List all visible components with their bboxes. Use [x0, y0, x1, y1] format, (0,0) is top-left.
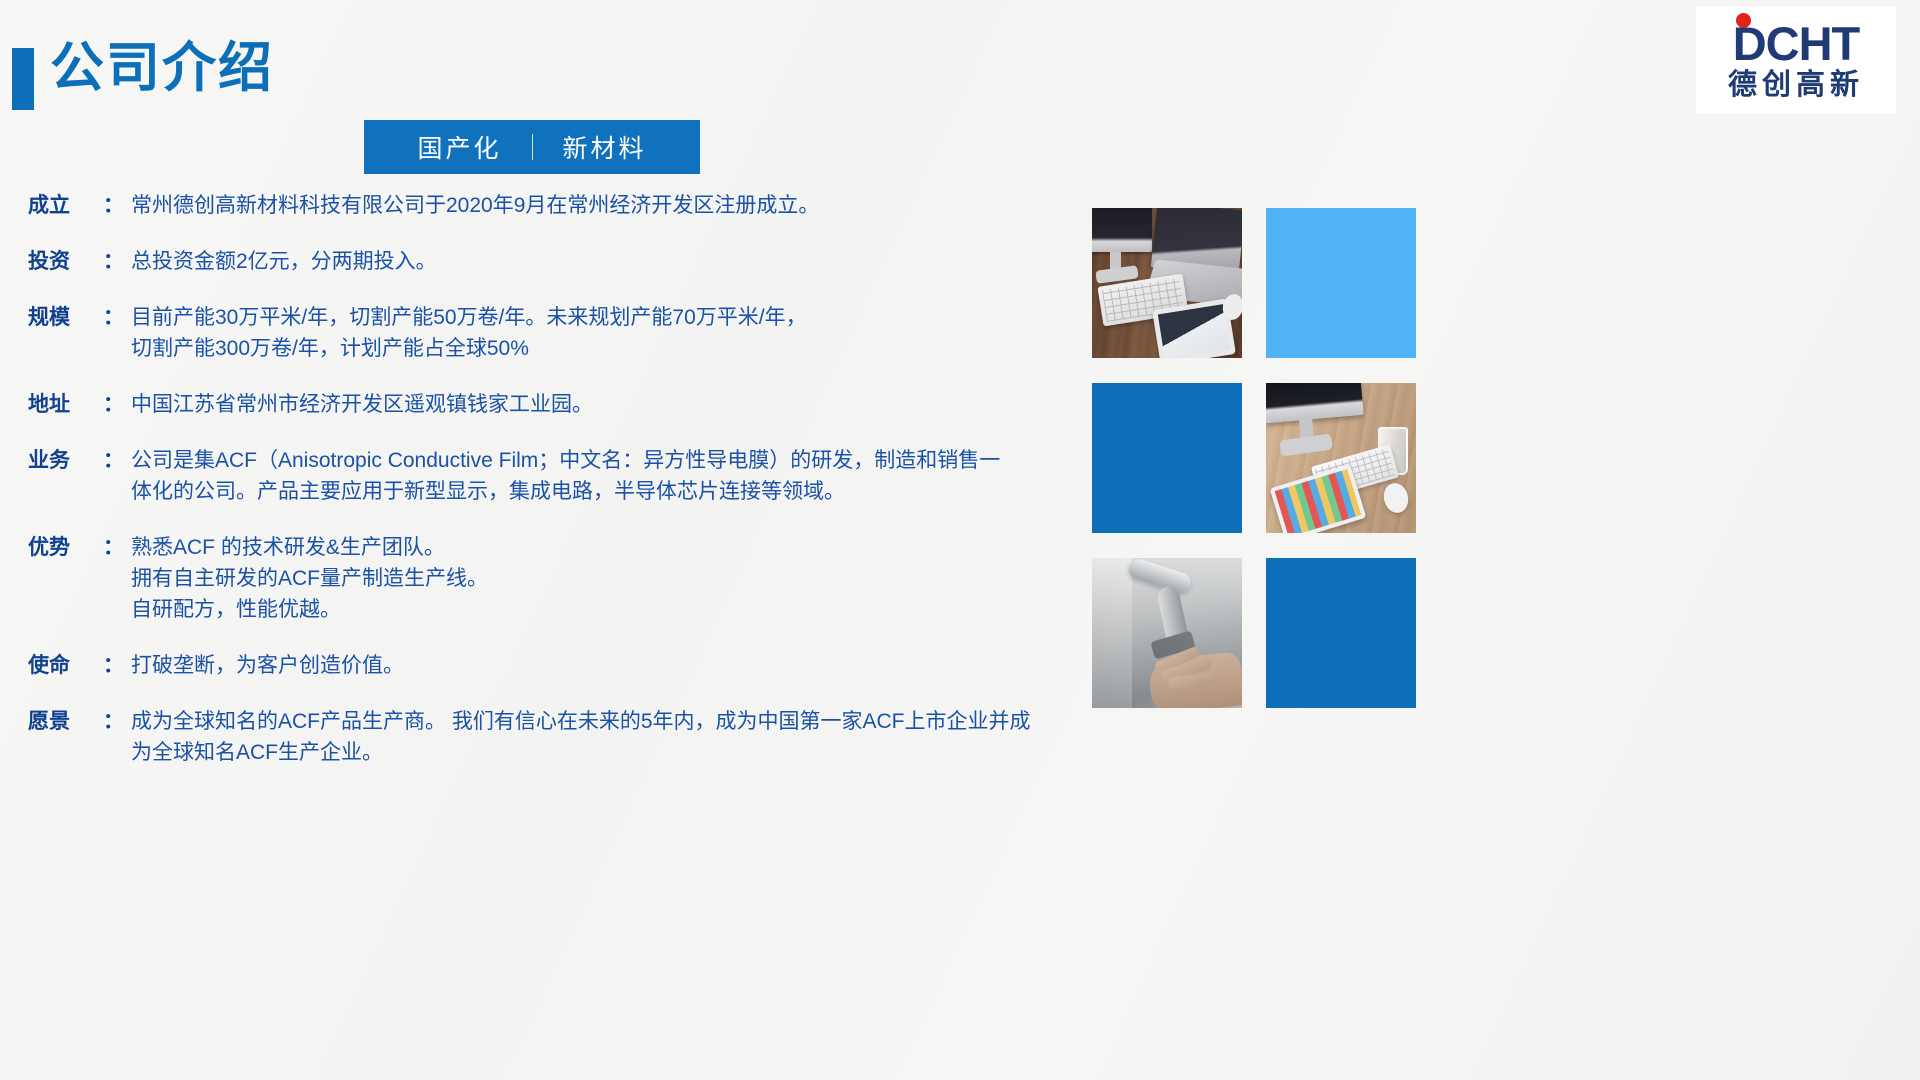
info-row-body: 熟悉ACF 的技术研发&生产团队。拥有自主研发的ACF量产制造生产线。自研配方，…: [131, 532, 1088, 625]
info-row: 地址：中国江苏省常州市经济开发区遥观镇钱家工业园。: [28, 389, 1088, 420]
banner-label-right: 新材料: [563, 129, 647, 165]
logo-red-dot-icon: [1736, 13, 1751, 28]
title-accent-bar: [12, 48, 34, 110]
info-row: 愿景：成为全球知名的ACF产品生产商。 我们有信心在未来的5年内，成为中国第一家…: [28, 706, 1088, 768]
info-row-label: 使命: [28, 650, 102, 681]
info-row-body: 公司是集ACF（Anisotropic Conductive Film；中文名：…: [131, 445, 1088, 507]
info-row-label: 成立: [28, 190, 102, 221]
info-row-line: 拥有自主研发的ACF量产制造生产线。: [131, 563, 1088, 594]
info-row-line: 熟悉ACF 的技术研发&生产团队。: [131, 532, 1088, 563]
info-row-line: 中国江苏省常州市经济开发区遥观镇钱家工业园。: [131, 389, 1088, 420]
info-row: 成立：常州德创高新材料科技有限公司于2020年9月在常州经济开发区注册成立。: [28, 190, 1088, 221]
info-row-colon: ：: [102, 302, 131, 333]
info-row-colon: ：: [102, 532, 131, 563]
info-row-label: 优势: [28, 532, 102, 563]
grid-tile-dark-blue-left: [1092, 383, 1242, 533]
info-row-body: 目前产能30万平米/年，切割产能50万卷/年。未来规划产能70万平米/年，切割产…: [131, 302, 1088, 364]
grid-photo-desk-light: [1266, 383, 1416, 533]
logo-wordmark: DCHT: [1733, 20, 1860, 67]
info-row-line: 常州德创高新材料科技有限公司于2020年9月在常州经济开发区注册成立。: [131, 190, 1088, 221]
info-row-line: 体化的公司。产品主要应用于新型显示，集成电路，半导体芯片连接等领域。: [131, 476, 1088, 507]
info-row-line: 目前产能30万平米/年，切割产能50万卷/年。未来规划产能70万平米/年，: [131, 302, 1088, 333]
info-row-label: 地址: [28, 389, 102, 420]
info-row-colon: ：: [102, 706, 131, 737]
logo-letters: DCHT: [1733, 20, 1860, 67]
info-row: 投资：总投资金额2亿元，分两期投入。: [28, 246, 1088, 277]
tagline-banner: 国产化 新材料: [364, 120, 700, 174]
info-row-colon: ：: [102, 190, 131, 221]
info-row-line: 自研配方，性能优越。: [131, 594, 1088, 625]
imac-screen: [1092, 208, 1152, 252]
slide-canvas: 公司介绍 DCHT 德创高新 国产化 新材料 成立：常州德创高新材料科技有限公司…: [0, 0, 1920, 1080]
info-row-line: 切割产能300万卷/年，计划产能占全球50%: [131, 333, 1088, 364]
info-row-line: 公司是集ACF（Anisotropic Conductive Film；中文名：…: [131, 445, 1088, 476]
company-logo: DCHT 德创高新: [1696, 6, 1896, 114]
grid-photo-robot-arm: [1092, 558, 1242, 708]
banner-label-left: 国产化: [417, 129, 501, 165]
info-row: 优势：熟悉ACF 的技术研发&生产团队。拥有自主研发的ACF量产制造生产线。自研…: [28, 532, 1088, 625]
info-row: 使命：打破垄断，为客户创造价值。: [28, 650, 1088, 681]
info-row-label: 业务: [28, 445, 102, 476]
info-row-label: 投资: [28, 246, 102, 277]
info-row-label: 规模: [28, 302, 102, 333]
info-row-label: 愿景: [28, 706, 102, 737]
info-row-body: 成为全球知名的ACF产品生产商。 我们有信心在未来的5年内，成为中国第一家ACF…: [131, 706, 1088, 768]
info-row-body: 常州德创高新材料科技有限公司于2020年9月在常州经济开发区注册成立。: [131, 190, 1088, 221]
image-grid: [1092, 208, 1416, 708]
grid-tile-light-blue: [1266, 208, 1416, 358]
info-row-line: 为全球知名ACF生产企业。: [131, 737, 1088, 768]
info-row-colon: ：: [102, 389, 131, 420]
info-row-line: 成为全球知名的ACF产品生产商。 我们有信心在未来的5年内，成为中国第一家ACF…: [131, 706, 1088, 737]
info-row-line: 打破垄断，为客户创造价值。: [131, 650, 1088, 681]
logo-chinese-name: 德创高新: [1728, 71, 1864, 100]
info-row-body: 总投资金额2亿元，分两期投入。: [131, 246, 1088, 277]
banner-divider-icon: [532, 134, 533, 160]
info-row-colon: ：: [102, 246, 131, 277]
info-row-colon: ：: [102, 445, 131, 476]
info-row-body: 打破垄断，为客户创造价值。: [131, 650, 1088, 681]
grid-photo-desk-dark: [1092, 208, 1242, 358]
info-row: 业务：公司是集ACF（Anisotropic Conductive Film；中…: [28, 445, 1088, 507]
grid-tile-dark-blue-right: [1266, 558, 1416, 708]
info-row-body: 中国江苏省常州市经济开发区遥观镇钱家工业园。: [131, 389, 1088, 420]
page-title: 公司介绍: [50, 40, 274, 97]
company-info-list: 成立：常州德创高新材料科技有限公司于2020年9月在常州经济开发区注册成立。投资…: [28, 190, 1088, 793]
info-row-colon: ：: [102, 650, 131, 681]
info-row: 规模：目前产能30万平米/年，切割产能50万卷/年。未来规划产能70万平米/年，…: [28, 302, 1088, 364]
photo-shading-overlay: [1092, 558, 1242, 708]
info-row-line: 总投资金额2亿元，分两期投入。: [131, 246, 1088, 277]
